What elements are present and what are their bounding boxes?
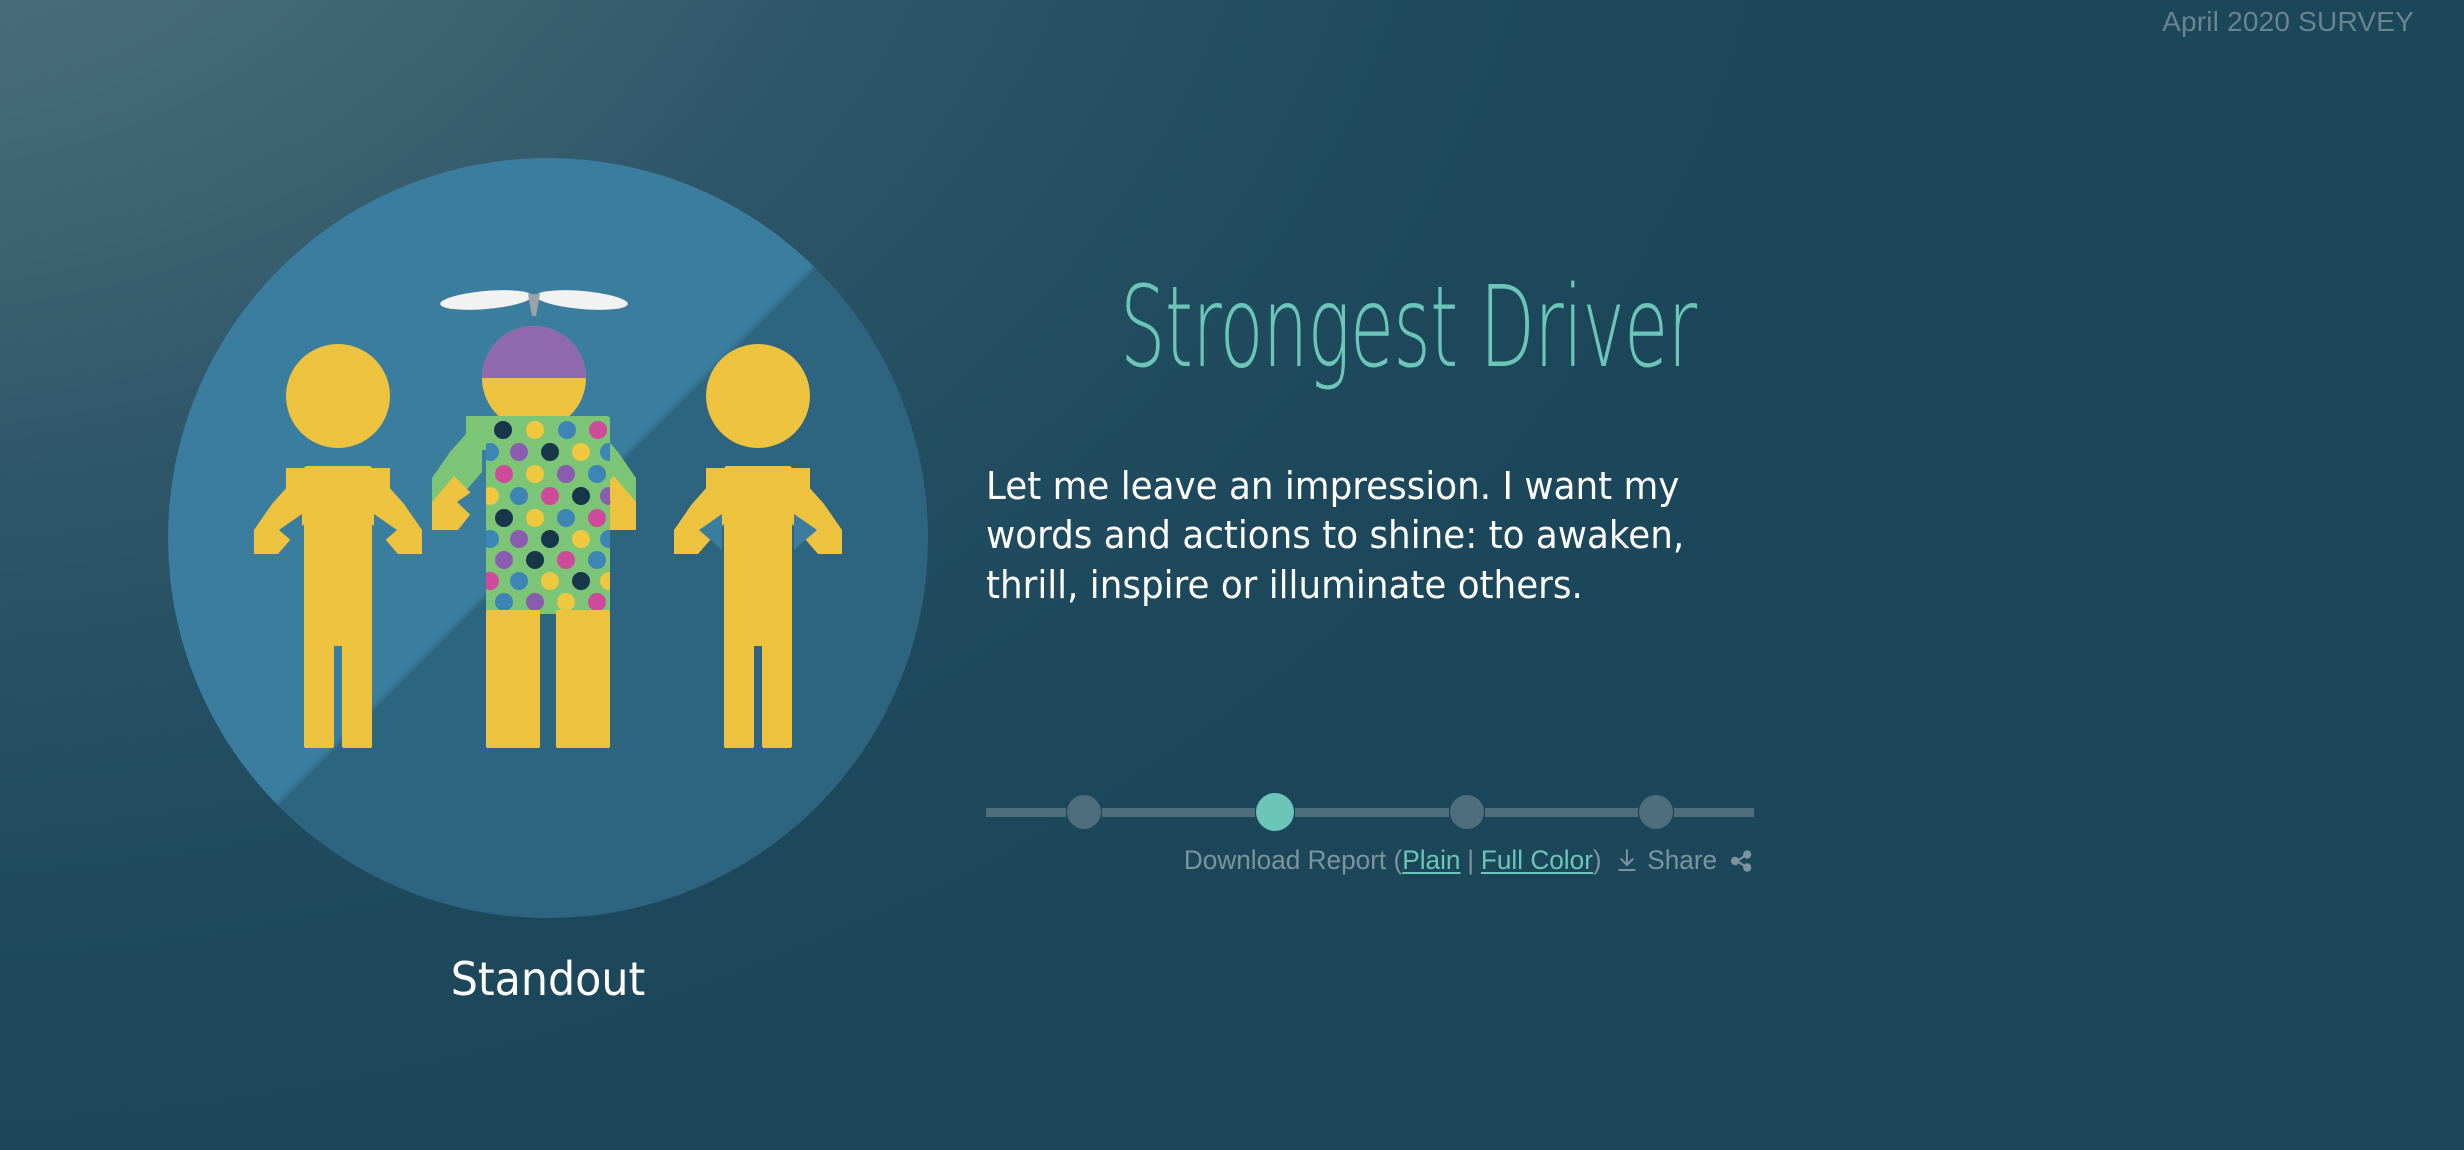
propeller-beanie — [482, 326, 586, 378]
propeller-icon — [439, 287, 628, 316]
stepper-line — [1674, 808, 1754, 817]
figure-left — [254, 344, 422, 748]
download-plain-link[interactable]: Plain — [1402, 845, 1460, 876]
illustration-caption: Standout — [195, 952, 902, 1006]
driver-description: Let me leave an impression. I want my wo… — [986, 462, 1738, 610]
driver-content-panel: Strongest Driver Let me leave an impress… — [986, 0, 2406, 1150]
stepper-line — [986, 808, 1066, 817]
close-paren: ) — [1593, 845, 1602, 876]
stepper-line — [1485, 808, 1638, 817]
stepper-line — [1102, 808, 1255, 817]
figure-right — [674, 344, 842, 748]
download-report-label: Download Report ( — [1184, 845, 1402, 876]
stepper-dot-1[interactable] — [1067, 795, 1101, 829]
share-label[interactable]: Share — [1647, 845, 1717, 876]
download-share-row: Download Report (Plain|Full Color) Share — [1009, 845, 1754, 876]
page-title: Strongest Driver — [1120, 272, 1696, 384]
link-separator: | — [1460, 845, 1480, 876]
stepper-dot-4[interactable] — [1639, 795, 1673, 829]
slide-stage: April 2020 SURVEY — [0, 0, 2464, 1150]
download-full-color-link[interactable]: Full Color — [1481, 845, 1593, 876]
share-nodes-icon[interactable] — [1729, 848, 1754, 874]
stepper-dot-2[interactable] — [1256, 793, 1294, 831]
driver-illustration — [168, 158, 928, 918]
driver-stepper[interactable] — [986, 782, 1754, 842]
download-arrow-icon[interactable] — [1615, 848, 1638, 874]
three-figures-graphic — [168, 158, 928, 918]
stepper-dot-3[interactable] — [1450, 795, 1484, 829]
stepper-line — [1295, 808, 1448, 817]
figure-middle-standout — [432, 287, 636, 748]
